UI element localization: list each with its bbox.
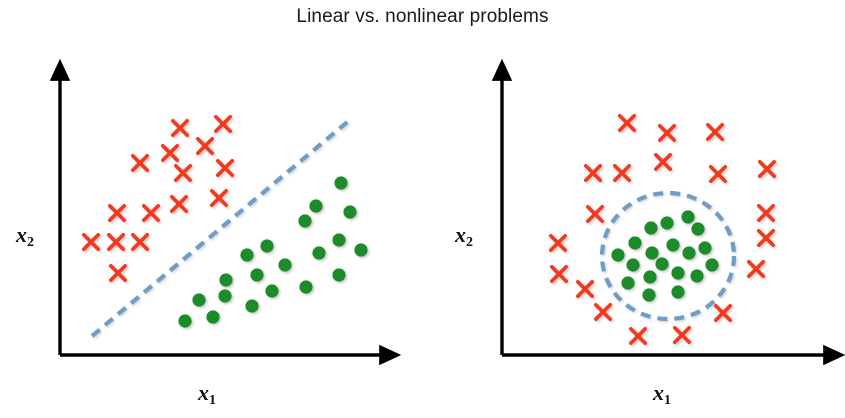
marker-dot bbox=[611, 248, 624, 261]
marker-x bbox=[578, 282, 592, 296]
marker-x bbox=[111, 266, 125, 280]
marker-dot bbox=[655, 257, 668, 270]
decision-boundary-line bbox=[92, 118, 352, 336]
y-axis-label-left-sub: 2 bbox=[27, 235, 34, 250]
marker-dot bbox=[621, 276, 634, 289]
marker-dot bbox=[312, 246, 325, 259]
marker-dot bbox=[332, 268, 345, 281]
x-axis-label-right: x1 bbox=[653, 380, 671, 409]
marker-dot bbox=[644, 221, 657, 234]
marker-dot bbox=[278, 258, 291, 271]
marker-dot bbox=[343, 205, 356, 218]
marker-x bbox=[84, 235, 98, 249]
marker-dot bbox=[626, 258, 639, 271]
marker-x bbox=[760, 162, 774, 176]
marker-dot bbox=[178, 314, 191, 327]
marker-dot bbox=[705, 258, 718, 271]
marker-dot bbox=[642, 288, 655, 301]
marker-x bbox=[586, 166, 600, 180]
marker-dot bbox=[628, 236, 641, 249]
marker-dot bbox=[643, 270, 656, 283]
marker-dot bbox=[671, 266, 684, 279]
marker-dot bbox=[299, 280, 312, 293]
y-axis-label-right-text: x bbox=[455, 222, 466, 247]
y-axis-label-left: x2 bbox=[16, 222, 34, 251]
marker-x bbox=[212, 191, 226, 205]
marker-dot bbox=[698, 241, 711, 254]
marker-dot bbox=[354, 243, 367, 256]
marker-dot bbox=[245, 299, 258, 312]
marker-dot bbox=[240, 248, 253, 261]
axes-right bbox=[502, 72, 832, 355]
marker-x bbox=[172, 197, 186, 211]
marker-dot bbox=[218, 289, 231, 302]
marker-x bbox=[631, 329, 645, 343]
y-axis-label-right-sub: 2 bbox=[466, 235, 473, 250]
x-axis-label-right-text: x bbox=[653, 380, 664, 405]
marker-dot bbox=[671, 285, 684, 298]
marker-x bbox=[198, 139, 212, 153]
marker-x bbox=[660, 126, 674, 140]
x-axis-label-left: x1 bbox=[198, 380, 216, 409]
marker-x bbox=[749, 262, 763, 276]
marker-x bbox=[759, 231, 773, 245]
marker-x bbox=[216, 117, 230, 131]
x-axis-label-right-sub: 1 bbox=[664, 393, 671, 408]
marker-x bbox=[144, 206, 158, 220]
marker-dot bbox=[332, 233, 345, 246]
marker-x bbox=[716, 306, 730, 320]
marker-x bbox=[759, 206, 773, 220]
marker-dot bbox=[645, 246, 658, 259]
marker-dot bbox=[690, 269, 703, 282]
marker-dot bbox=[250, 268, 263, 281]
marker-x bbox=[163, 146, 177, 160]
x-axis-label-left-sub: 1 bbox=[209, 393, 216, 408]
marker-x bbox=[620, 116, 634, 130]
x-axis-label-left-text: x bbox=[198, 380, 209, 405]
marker-x bbox=[656, 155, 670, 169]
marker-x bbox=[552, 267, 566, 281]
marker-dot bbox=[681, 210, 694, 223]
marker-dot bbox=[660, 216, 673, 229]
marker-x bbox=[109, 235, 123, 249]
marker-x bbox=[133, 156, 147, 170]
marker-dot bbox=[206, 310, 219, 323]
marker-dot bbox=[334, 176, 347, 189]
y-axis-label-right: x2 bbox=[455, 222, 473, 251]
marker-dot bbox=[682, 246, 695, 259]
boundary-dashed-line bbox=[92, 118, 352, 336]
marker-dot bbox=[309, 199, 322, 212]
axes-left bbox=[60, 72, 388, 355]
marker-dot bbox=[260, 239, 273, 252]
marker-x bbox=[173, 121, 187, 135]
marker-x bbox=[176, 166, 190, 180]
markers-right-panel bbox=[551, 116, 774, 343]
marker-dot bbox=[219, 273, 232, 286]
marker-dot bbox=[691, 222, 704, 235]
figure-canvas: Linear vs. nonlinear problems x2 x1 x2 x… bbox=[0, 0, 845, 418]
marker-dot bbox=[666, 238, 679, 251]
scatter-plot-graphics bbox=[0, 0, 845, 418]
marker-x bbox=[588, 207, 602, 221]
marker-x bbox=[711, 167, 725, 181]
marker-dot bbox=[298, 214, 311, 227]
marker-x bbox=[551, 236, 565, 250]
y-axis-label-left-text: x bbox=[16, 222, 27, 247]
marker-x bbox=[675, 328, 689, 342]
marker-x bbox=[110, 206, 124, 220]
marker-dot bbox=[192, 293, 205, 306]
marker-x bbox=[133, 235, 147, 249]
marker-x bbox=[596, 305, 610, 319]
marker-x bbox=[218, 161, 232, 175]
marker-dot bbox=[265, 284, 278, 297]
marker-x bbox=[708, 125, 722, 139]
marker-x bbox=[615, 166, 629, 180]
